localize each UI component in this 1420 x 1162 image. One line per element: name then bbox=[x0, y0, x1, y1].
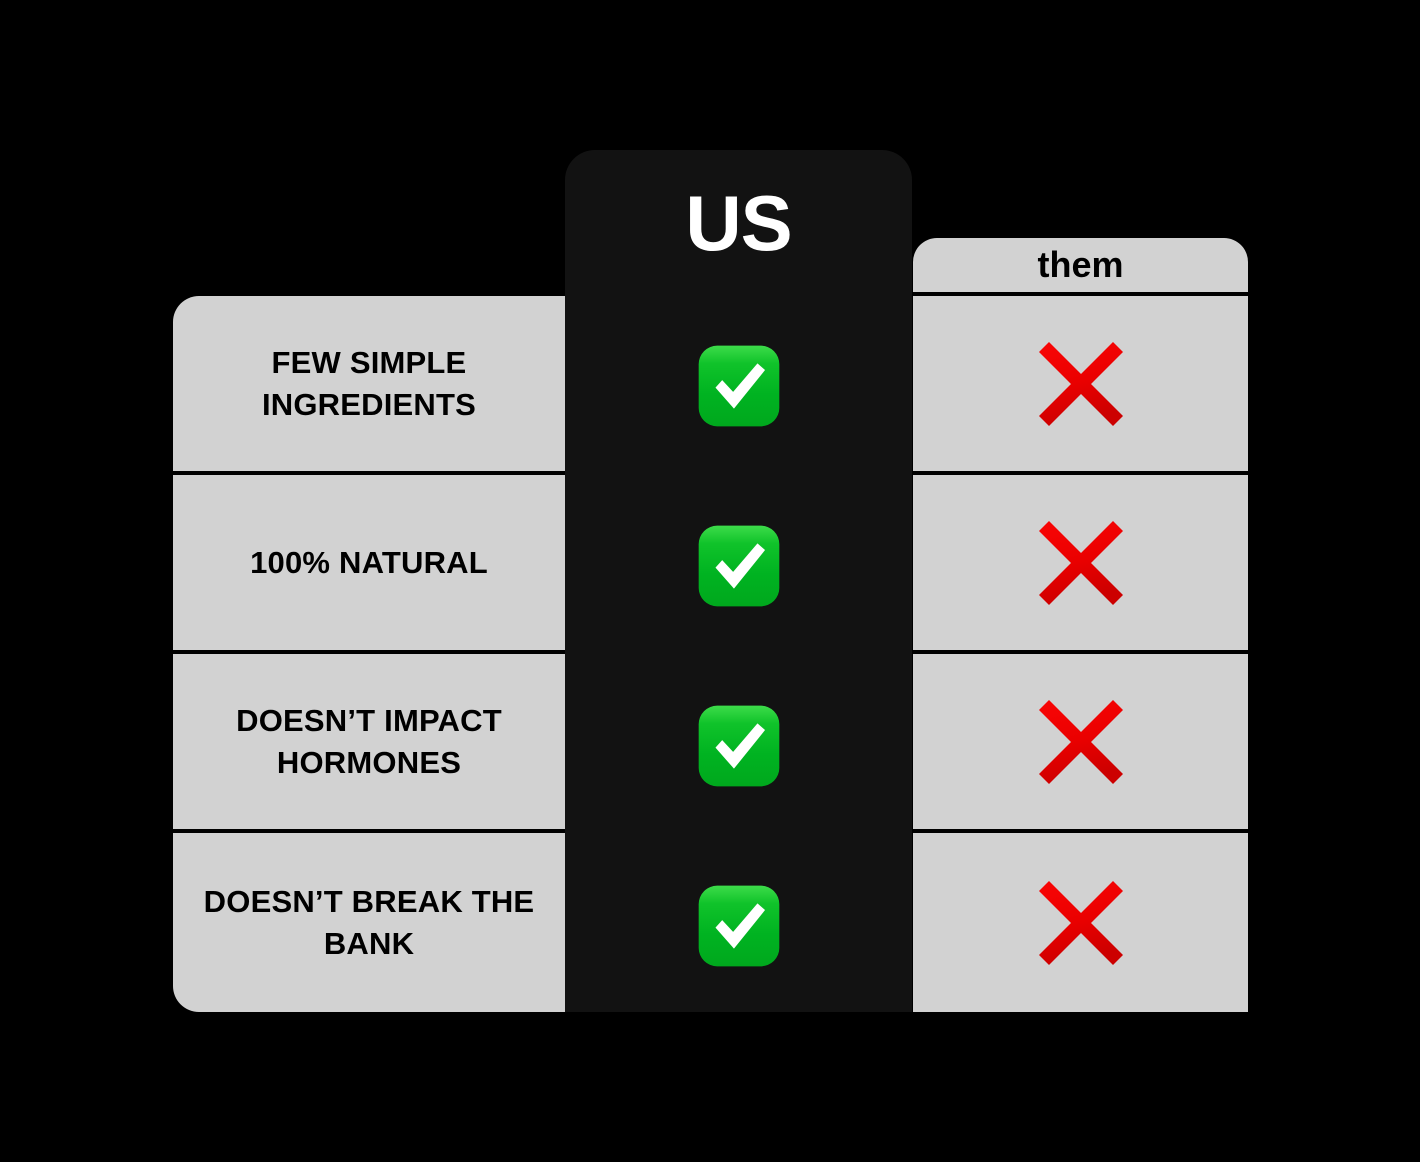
cross-mark-icon bbox=[1031, 873, 1131, 973]
us-cell bbox=[565, 836, 912, 1016]
us-cell bbox=[565, 296, 912, 476]
them-column-panel: them bbox=[913, 238, 1248, 1012]
check-mark-icon bbox=[697, 524, 781, 608]
comparison-table: FEW SIMPLE INGREDIENTS 100% NATURAL DOES… bbox=[0, 0, 1420, 1162]
us-column-header: US bbox=[565, 184, 912, 262]
us-cell bbox=[565, 656, 912, 836]
feature-labels-panel: FEW SIMPLE INGREDIENTS 100% NATURAL DOES… bbox=[173, 296, 565, 1012]
feature-label-text: DOESN’T BREAK THE BANK bbox=[187, 881, 551, 963]
check-mark-icon bbox=[697, 344, 781, 428]
cross-mark-icon bbox=[1031, 513, 1131, 613]
feature-label-row: FEW SIMPLE INGREDIENTS bbox=[173, 296, 565, 475]
check-mark-icon bbox=[697, 704, 781, 788]
feature-label-text: DOESN’T IMPACT HORMONES bbox=[187, 700, 551, 782]
feature-label-text: FEW SIMPLE INGREDIENTS bbox=[187, 342, 551, 424]
them-cell bbox=[913, 296, 1248, 475]
check-mark-icon bbox=[697, 884, 781, 968]
them-cell bbox=[913, 833, 1248, 1012]
us-column-panel: US bbox=[565, 150, 912, 1012]
feature-label-row: DOESN’T IMPACT HORMONES bbox=[173, 654, 565, 833]
feature-label-row: DOESN’T BREAK THE BANK bbox=[173, 833, 565, 1012]
us-cell bbox=[565, 476, 912, 656]
feature-label-text: 100% NATURAL bbox=[250, 542, 488, 583]
cross-mark-icon bbox=[1031, 692, 1131, 792]
them-cell bbox=[913, 654, 1248, 833]
them-cell bbox=[913, 475, 1248, 654]
cross-mark-icon bbox=[1031, 334, 1131, 434]
them-column-header: them bbox=[913, 238, 1248, 296]
feature-label-row: 100% NATURAL bbox=[173, 475, 565, 654]
